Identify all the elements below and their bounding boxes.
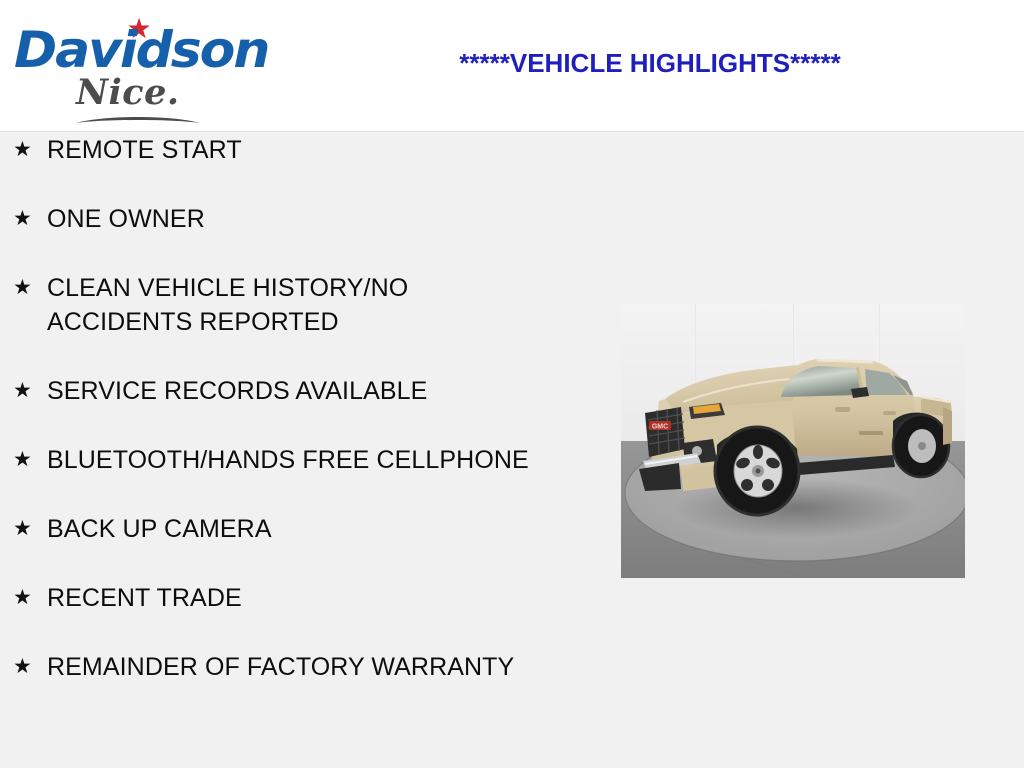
star-bullet-icon: ★ — [13, 202, 33, 236]
list-item: ★ CLEAN VEHICLE HISTORY/NO ACCIDENTS REP… — [0, 271, 540, 339]
star-bullet-icon: ★ — [13, 650, 33, 684]
list-item-label: CLEAN VEHICLE HISTORY/NO ACCIDENTS REPOR… — [47, 271, 540, 339]
svg-text:GMC: GMC — [652, 424, 668, 431]
logo-tagline: Nice. — [76, 74, 180, 112]
star-bullet-icon: ★ — [13, 374, 33, 408]
page-title: *****VEHICLE HIGHLIGHTS***** — [330, 48, 970, 78]
list-item-label: ONE OWNER — [47, 202, 540, 236]
vehicle-photo[interactable]: GMC — [621, 303, 965, 578]
list-item-label: RECENT TRADE — [47, 581, 540, 615]
list-item: ★ RECENT TRADE — [0, 581, 540, 615]
logo-swoosh-icon — [74, 114, 202, 126]
star-bullet-icon: ★ — [13, 581, 33, 615]
page-header: ★ Davidson Nice. *****VEHICLE HIGHLIGHTS… — [0, 0, 1024, 132]
list-item: ★ BLUETOOTH/HANDS FREE CELLPHONE — [0, 443, 540, 477]
vehicle-highlights-list: ★ REMOTE START ★ ONE OWNER ★ CLEAN VEHIC… — [0, 133, 540, 719]
list-item: ★ SERVICE RECORDS AVAILABLE — [0, 374, 540, 408]
star-bullet-icon: ★ — [13, 443, 33, 477]
vehicle-photo-illustration: GMC — [621, 303, 965, 578]
vehicle-highlights-page: ★ Davidson Nice. *****VEHICLE HIGHLIGHTS… — [0, 0, 1024, 768]
dealer-logo[interactable]: ★ Davidson Nice. — [14, 8, 274, 126]
list-item-label: BACK UP CAMERA — [47, 512, 540, 546]
list-item-label: REMOTE START — [47, 133, 540, 167]
list-item: ★ REMOTE START — [0, 133, 540, 167]
list-item-label: BLUETOOTH/HANDS FREE CELLPHONE — [47, 443, 540, 477]
list-item: ★ ONE OWNER — [0, 202, 540, 236]
list-item-label: SERVICE RECORDS AVAILABLE — [47, 374, 540, 408]
star-bullet-icon: ★ — [13, 512, 33, 546]
page-content: ★ REMOTE START ★ ONE OWNER ★ CLEAN VEHIC… — [0, 133, 1024, 768]
list-item-label: REMAINDER OF FACTORY WARRANTY — [47, 650, 540, 684]
list-item: ★ BACK UP CAMERA — [0, 512, 540, 546]
star-bullet-icon: ★ — [13, 133, 33, 167]
star-bullet-icon: ★ — [13, 271, 33, 305]
list-item: ★ REMAINDER OF FACTORY WARRANTY — [0, 650, 540, 684]
logo-brand-name: Davidson — [14, 23, 268, 77]
